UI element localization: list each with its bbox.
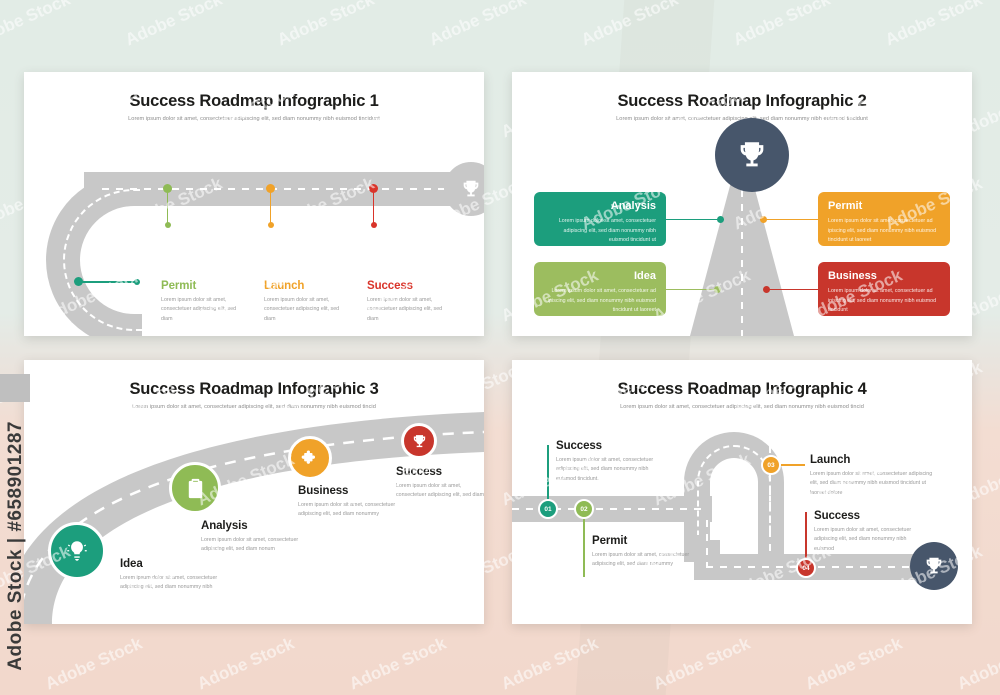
step-title-permit-1: Permit bbox=[161, 280, 249, 292]
icon-bubble-analysis-3[interactable] bbox=[169, 462, 221, 514]
card-idea[interactable]: Idea Lorem ipsum dolor sit amet, consect… bbox=[534, 262, 666, 316]
connector-tip-permit-1 bbox=[165, 222, 171, 228]
slide-card-4[interactable]: Success Roadmap Infographic 4 Lorem ipsu… bbox=[512, 360, 972, 624]
slide-card-1[interactable]: Success Roadmap Infographic 1 Lorem ipsu… bbox=[24, 72, 484, 336]
trophy-hub-2 bbox=[715, 118, 789, 192]
road-dashes-1 bbox=[102, 188, 462, 190]
card-analysis[interactable]: Analysis Lorem ipsum dolor sit amet, con… bbox=[534, 192, 666, 246]
connector-03 bbox=[781, 464, 805, 466]
stock-id-sidebar: Adobe Stock | #658901287 bbox=[0, 398, 33, 694]
slide-card-3[interactable]: Success Roadmap Infographic 3 Lorem ipsu… bbox=[24, 360, 484, 624]
connector-success-1 bbox=[373, 192, 375, 225]
step-body-04: Lorem ipsum dolor sit amet, consectetuer… bbox=[814, 526, 926, 554]
connector-plan bbox=[82, 281, 138, 283]
step-label-01[interactable]: Success Lorem ipsum dolor sit amet, cons… bbox=[556, 440, 666, 484]
connector-01 bbox=[547, 445, 549, 507]
step-title-business-3: Business bbox=[298, 485, 398, 497]
connector-dot-idea bbox=[714, 286, 721, 293]
page-title-4: Success Roadmap Infographic 4 bbox=[512, 380, 972, 399]
connector-dot-permit-2 bbox=[760, 216, 767, 223]
road-dashes-2 bbox=[741, 190, 743, 336]
card-title-business-2: Business bbox=[828, 270, 940, 282]
step-body-02: Lorem ipsum dolor sit amet, consectetuer… bbox=[592, 551, 694, 570]
connector-tip-launch-1 bbox=[268, 222, 274, 228]
connector-tip-plan bbox=[134, 279, 140, 285]
page-subtitle-1: Lorem ipsum dolor sit amet, consectetuer… bbox=[24, 116, 484, 122]
step-body-permit-1: Lorem ipsum dolor sit amet, consectetuer… bbox=[161, 296, 249, 324]
connector-dot-business-2 bbox=[763, 286, 770, 293]
step-title-success-3: Success bbox=[396, 466, 484, 478]
watermark-tile: Adobe Stock bbox=[346, 634, 449, 695]
card-title-permit-2: Permit bbox=[828, 200, 940, 212]
step-title-03: Launch bbox=[810, 454, 936, 466]
page-title-1: Success Roadmap Infographic 1 bbox=[24, 92, 484, 111]
badge-02[interactable]: 02 bbox=[574, 499, 594, 519]
connector-02 bbox=[583, 515, 585, 577]
connector-analysis bbox=[666, 219, 724, 220]
badge-04[interactable]: 04 bbox=[796, 558, 816, 578]
step-body-business-3: Lorem ipsum dolor sit amet, consectetuer… bbox=[298, 501, 398, 520]
step-label-idea-3[interactable]: Idea Lorem ipsum dolor sit amet, consect… bbox=[120, 558, 225, 593]
step-body-success-1: Lorem ipsum dolor sit amet, consectetuer… bbox=[367, 296, 455, 324]
step-title-success-1: Success bbox=[367, 280, 455, 292]
icon-bubble-business-3[interactable] bbox=[288, 436, 332, 480]
road-dashes-down-4 bbox=[706, 520, 708, 568]
step-label-04[interactable]: Success Lorem ipsum dolor sit amet, cons… bbox=[814, 510, 926, 554]
step-label-permit-1[interactable]: Permit Lorem ipsum dolor sit amet, conse… bbox=[161, 280, 249, 324]
connector-permit-1 bbox=[167, 192, 169, 225]
connector-business-2 bbox=[764, 289, 818, 290]
card-title-analysis: Analysis bbox=[544, 200, 656, 212]
page-subtitle-4: Lorem ipsum dolor sit amet, consectetuer… bbox=[512, 404, 972, 410]
watermark-tile: Adobe Stock bbox=[194, 634, 297, 695]
trophy-icon bbox=[923, 555, 945, 577]
card-body-idea: Lorem ipsum dolor sit amet, consectetuer… bbox=[544, 287, 656, 316]
card-title-idea: Idea bbox=[544, 270, 656, 282]
lightbulb-icon bbox=[64, 538, 90, 564]
puzzle-icon bbox=[300, 448, 320, 468]
icon-bubble-idea-3[interactable] bbox=[48, 522, 106, 580]
step-body-03: Lorem ipsum dolor sit amet, consectetuer… bbox=[810, 470, 936, 498]
badge-number-01: 01 bbox=[544, 506, 551, 513]
card-body-business-2: Lorem ipsum dolor sit amet, consectetuer… bbox=[828, 287, 940, 316]
step-label-02[interactable]: Permit Lorem ipsum dolor sit amet, conse… bbox=[592, 535, 694, 570]
connector-tip-success-1 bbox=[371, 222, 377, 228]
trophy-icon bbox=[735, 138, 769, 172]
slide-card-2[interactable]: Success Roadmap Infographic 2 Lorem ipsu… bbox=[512, 72, 972, 336]
step-title-analysis-3: Analysis bbox=[201, 520, 303, 532]
badge-number-04: 04 bbox=[802, 565, 809, 572]
card-permit-2[interactable]: Permit Lorem ipsum dolor sit amet, conse… bbox=[818, 192, 950, 246]
watermark-tile: Adobe Stock bbox=[274, 0, 377, 50]
watermark-tile: Adobe Stock bbox=[730, 0, 833, 50]
step-body-launch-1: Lorem ipsum dolor sit amet, consectetuer… bbox=[264, 296, 352, 324]
trophy-icon bbox=[411, 433, 428, 450]
connector-launch-1 bbox=[270, 192, 272, 225]
watermark-tile: Adobe Stock bbox=[954, 634, 1000, 695]
connector-dot-analysis bbox=[717, 216, 724, 223]
step-body-idea-3: Lorem ipsum dolor sit amet, consectetuer… bbox=[120, 574, 225, 593]
connector-idea bbox=[666, 289, 721, 290]
step-label-launch-1[interactable]: Launch Lorem ipsum dolor sit amet, conse… bbox=[264, 280, 352, 324]
stock-id-text: Adobe Stock | #658901287 bbox=[5, 421, 27, 671]
watermark-tile: Adobe Stock bbox=[42, 634, 145, 695]
step-title-01: Success bbox=[556, 440, 666, 452]
step-label-business-3[interactable]: Business Lorem ipsum dolor sit amet, con… bbox=[298, 485, 398, 520]
badge-number-02: 02 bbox=[580, 506, 587, 513]
card-business-2[interactable]: Business Lorem ipsum dolor sit amet, con… bbox=[818, 262, 950, 316]
trophy-end-1 bbox=[444, 162, 484, 216]
watermark-tile: Adobe Stock bbox=[0, 0, 73, 50]
badge-03[interactable]: 03 bbox=[761, 455, 781, 475]
step-label-success-1[interactable]: Success Lorem ipsum dolor sit amet, cons… bbox=[367, 280, 455, 324]
step-body-01: Lorem ipsum dolor sit amet, consectetuer… bbox=[556, 456, 666, 484]
step-title-04: Success bbox=[814, 510, 926, 522]
step-label-03[interactable]: Launch Lorem ipsum dolor sit amet, conse… bbox=[810, 454, 936, 498]
step-title-idea-3: Idea bbox=[120, 558, 225, 570]
badge-01[interactable]: 01 bbox=[538, 499, 558, 519]
road-dashes-arch-4 bbox=[697, 445, 771, 535]
step-title-launch-1: Launch bbox=[264, 280, 352, 292]
watermark-tile: Adobe Stock bbox=[802, 634, 905, 695]
badge-number-03: 03 bbox=[767, 462, 774, 469]
icon-bubble-success-3[interactable] bbox=[401, 423, 437, 459]
step-body-success-3: Lorem ipsum dolor sit amet, consectetuer… bbox=[396, 482, 484, 501]
trophy-icon bbox=[460, 178, 482, 200]
step-label-analysis-3[interactable]: Analysis Lorem ipsum dolor sit amet, con… bbox=[201, 520, 303, 555]
connector-permit-2 bbox=[760, 219, 818, 220]
card-body-permit-2: Lorem ipsum dolor sit amet, consectetuer… bbox=[828, 217, 940, 246]
step-label-success-3[interactable]: Success Lorem ipsum dolor sit amet, cons… bbox=[396, 466, 484, 501]
watermark-tile: Adobe Stock bbox=[122, 0, 225, 50]
watermark-tile: Adobe Stock bbox=[882, 0, 985, 50]
clipboard-icon bbox=[184, 477, 207, 500]
step-title-02: Permit bbox=[592, 535, 694, 547]
watermark-tile: Adobe Stock bbox=[426, 0, 529, 50]
step-body-analysis-3: Lorem ipsum dolor sit amet, consectetuer… bbox=[201, 536, 303, 555]
card-body-analysis: Lorem ipsum dolor sit amet, consectetuer… bbox=[544, 217, 656, 246]
